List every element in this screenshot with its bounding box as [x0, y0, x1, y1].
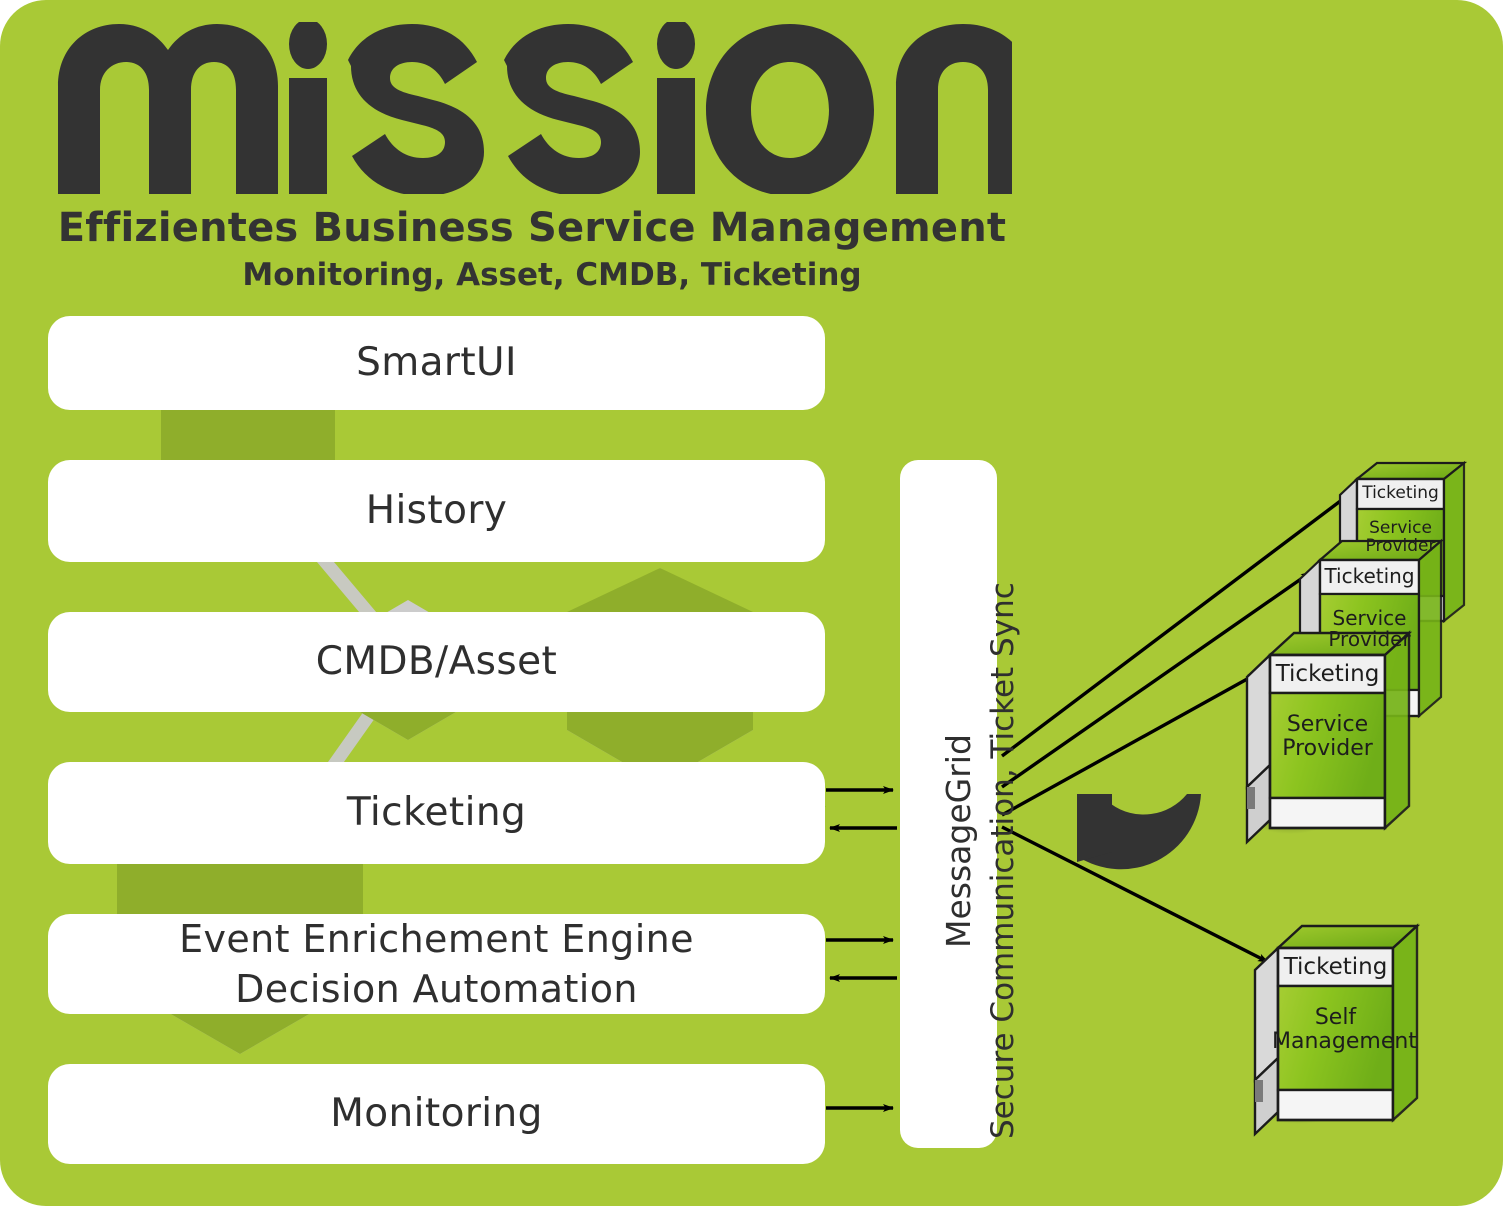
tagline-primary: Effizientes Business Service Management — [52, 205, 1012, 251]
module-box-ticketing[interactable]: Ticketing — [48, 762, 825, 864]
message-grid-subtitle: Secure Communication, Ticket Sync — [985, 582, 1021, 1139]
module-label-ticketing: Ticketing — [347, 787, 526, 838]
module-box-smartui[interactable]: SmartUI — [48, 316, 825, 410]
module-box-event-enrichment[interactable]: Event Enrichement Engine Decision Automa… — [48, 914, 825, 1014]
module-label-history: History — [366, 485, 508, 536]
curved-arrow-icon — [1077, 794, 1201, 869]
module-label-cmdb-asset: CMDB/Asset — [316, 636, 557, 687]
diagram-canvas: Effizientes Business Service Management … — [0, 0, 1503, 1206]
module-box-cmdb-asset[interactable]: CMDB/Asset — [48, 612, 825, 712]
module-label-smartui: SmartUI — [356, 337, 517, 388]
arrow-to-sp-3 — [1002, 673, 1258, 815]
module-box-monitoring[interactable]: Monitoring — [48, 1064, 825, 1164]
module-box-history[interactable]: History — [48, 460, 825, 562]
message-grid-title: MessageGrid — [939, 734, 978, 948]
module-label-event-enrichment: Event Enrichement Engine — [179, 914, 694, 964]
arrows-module-to-grid — [826, 790, 897, 1108]
module-label-monitoring: Monitoring — [330, 1088, 543, 1139]
module-label-decision-automation: Decision Automation — [235, 964, 638, 1014]
package-sp-3 — [1247, 633, 1409, 842]
package-self-mgmt — [1255, 926, 1417, 1134]
mission-logo — [52, 22, 1012, 194]
tagline-secondary: Monitoring, Asset, CMDB, Ticketing — [52, 257, 1052, 293]
